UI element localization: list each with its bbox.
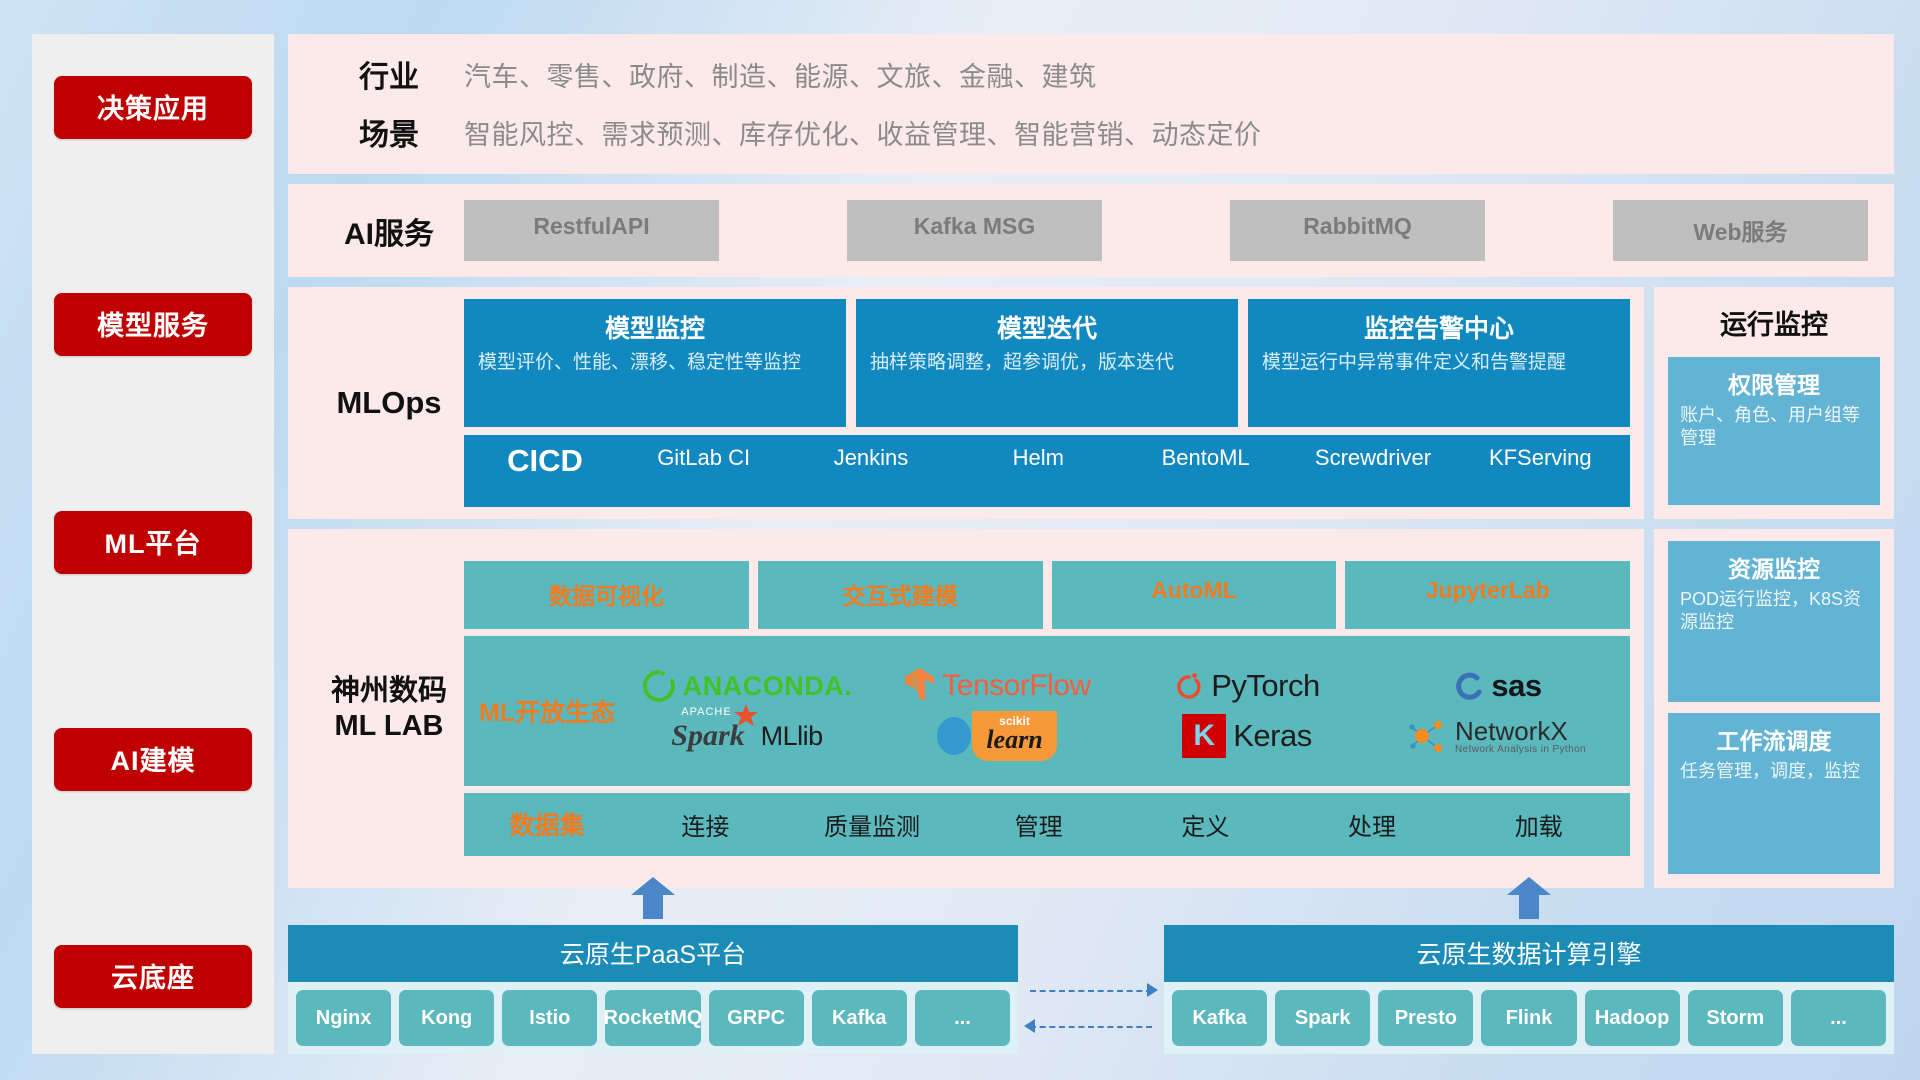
ml-lab-label-line1: 神州数码 bbox=[314, 674, 464, 708]
connector-arrow-right-icon bbox=[1147, 983, 1158, 997]
paas-chip-list: Nginx Kong Istio RocketMQ GRPC Kafka ... bbox=[288, 982, 1018, 1054]
cloud-link-connector bbox=[1018, 898, 1164, 1054]
monitor-card-permission[interactable]: 权限管理 账户、角色、用户组等管理 bbox=[1668, 357, 1880, 505]
mlops-card-model-iteration[interactable]: 模型迭代 抽样策略调整，超参调优，版本迭代 bbox=[856, 299, 1238, 427]
cicd-item-bentoml[interactable]: BentoML bbox=[1122, 445, 1289, 470]
mllib-wordmark: MLlib bbox=[761, 721, 823, 752]
ecosystem-logo-grid: ANACONDA. TensorFlow bbox=[622, 661, 1622, 761]
scenario-label: 场景 bbox=[314, 110, 464, 154]
mlops-and-monitor-row: MLOps 模型监控 模型评价、性能、漂移、稳定性等监控 模型迭代 抽样策略调整… bbox=[288, 287, 1894, 519]
ai-service-chip-web-service[interactable]: Web服务 bbox=[1613, 200, 1868, 261]
mlops-card-desc: 抽样策略调整，超参调优，版本迭代 bbox=[870, 351, 1224, 375]
scenario-values: 智能风控、需求预测、库存优化、收益管理、智能营销、动态定价 bbox=[464, 113, 1262, 152]
sas-icon bbox=[1452, 670, 1484, 702]
keras-mark-icon: K bbox=[1182, 714, 1226, 758]
mlops-card-desc: 模型评价、性能、漂移、稳定性等监控 bbox=[478, 351, 832, 375]
monitor-card-resource[interactable]: 资源监控 POD运行监控，K8S资源监控 bbox=[1668, 541, 1880, 702]
architecture-diagram: 决策应用 模型服务 ML平台 AI建模 云底座 行业 汽车、零售、政府、制造、能… bbox=[0, 0, 1920, 1080]
connector-dashed-line-bottom bbox=[1030, 1026, 1152, 1028]
dataset-item-processing[interactable]: 处理 bbox=[1289, 807, 1456, 842]
mlops-content: 模型监控 模型评价、性能、漂移、稳定性等监控 模型迭代 抽样策略调整，超参调优，… bbox=[464, 299, 1630, 507]
spark-mllib-logo: APACHE Spark MLlib bbox=[671, 719, 822, 753]
rail-spacer-4 bbox=[54, 791, 252, 945]
spark-apache-text: APACHE bbox=[681, 706, 731, 718]
pytorch-logo: PyTorch bbox=[1174, 668, 1319, 704]
keras-mark-letter: K bbox=[1193, 719, 1215, 753]
runtime-monitor-column: 运行监控 权限管理 账户、角色、用户组等管理 bbox=[1654, 287, 1894, 519]
runtime-monitor-title: 运行监控 bbox=[1720, 303, 1828, 342]
paas-platform-group: 云原生PaaS平台 Nginx Kong Istio RocketMQ GRPC… bbox=[288, 885, 1018, 1054]
decision-apps-band: 行业 汽车、零售、政府、制造、能源、文旅、金融、建筑 场景 智能风控、需求预测、… bbox=[288, 34, 1894, 174]
mlops-band: MLOps 模型监控 模型评价、性能、漂移、稳定性等监控 模型迭代 抽样策略调整… bbox=[288, 287, 1644, 519]
ml-open-ecosystem-row: ML开放生态 ANACONDA. bbox=[464, 636, 1630, 786]
cicd-bar: CICD GitLab CI Jenkins Helm BentoML Scre… bbox=[464, 435, 1630, 507]
monitor-card-desc: 账户、角色、用户组等管理 bbox=[1680, 404, 1868, 449]
compute-chip-spark[interactable]: Spark bbox=[1275, 990, 1370, 1046]
ai-service-chip-kafka-msg[interactable]: Kafka MSG bbox=[847, 200, 1102, 261]
mlops-card-title: 模型监控 bbox=[478, 309, 832, 345]
keras-wordmark: Keras bbox=[1233, 718, 1311, 754]
tool-chip-automl[interactable]: AutoML bbox=[1052, 561, 1337, 629]
mlops-card-desc: 模型运行中异常事件定义和告警提醒 bbox=[1262, 351, 1616, 375]
apps-rows: 行业 汽车、零售、政府、制造、能源、文旅、金融、建筑 场景 智能风控、需求预测、… bbox=[314, 52, 1868, 154]
compute-chip-list: Kafka Spark Presto Flink Hadoop Storm ..… bbox=[1164, 982, 1894, 1054]
connector-dashed-line-top bbox=[1030, 990, 1152, 992]
mlops-card-title: 模型迭代 bbox=[870, 309, 1224, 345]
tool-chip-interactive-modeling[interactable]: 交互式建模 bbox=[758, 561, 1043, 629]
monitor-card-desc: POD运行监控，K8S资源监控 bbox=[1680, 588, 1868, 633]
dataset-label: 数据集 bbox=[472, 806, 622, 842]
mlops-card-title: 监控告警中心 bbox=[1262, 309, 1616, 345]
tensorflow-icon bbox=[903, 667, 935, 705]
scikit-learn-logo: scikit learn bbox=[937, 711, 1056, 761]
dataset-item-loading[interactable]: 加载 bbox=[1455, 807, 1622, 842]
main-column: 行业 汽车、零售、政府、制造、能源、文旅、金融、建筑 场景 智能风控、需求预测、… bbox=[288, 34, 1894, 1054]
compute-chip-presto[interactable]: Presto bbox=[1378, 990, 1473, 1046]
mlops-label: MLOps bbox=[314, 385, 464, 421]
ai-service-chip-list: RestfulAPI Kafka MSG RabbitMQ Web服务 bbox=[464, 200, 1868, 261]
pytorch-icon bbox=[1174, 669, 1204, 703]
connector-arrow-left-icon bbox=[1024, 1019, 1035, 1033]
compute-chip-more[interactable]: ... bbox=[1791, 990, 1886, 1046]
ai-modeling-band: 神州数码 ML LAB 数据可视化 交互式建模 AutoML JupyterLa… bbox=[288, 529, 1644, 888]
dataset-row: 数据集 连接 质量监测 管理 定义 处理 加载 bbox=[464, 793, 1630, 856]
modeling-content: 数据可视化 交互式建模 AutoML JupyterLab ML开放生态 bbox=[464, 561, 1630, 856]
rail-item-cloud-base[interactable]: 云底座 bbox=[54, 945, 252, 1008]
dataset-item-management[interactable]: 管理 bbox=[955, 807, 1122, 842]
networkx-icon bbox=[1408, 718, 1448, 754]
networkx-logo: NetworkX Network Analysis in Python bbox=[1408, 718, 1586, 755]
paas-chip-grpc[interactable]: GRPC bbox=[709, 990, 804, 1046]
monitor-card-title: 工作流调度 bbox=[1680, 722, 1868, 756]
paas-chip-nginx[interactable]: Nginx bbox=[296, 990, 391, 1046]
tool-chip-jupyterlab[interactable]: JupyterLab bbox=[1345, 561, 1630, 629]
mlops-card-model-monitoring[interactable]: 模型监控 模型评价、性能、漂移、稳定性等监控 bbox=[464, 299, 846, 427]
cloud-base-band: 云原生PaaS平台 Nginx Kong Istio RocketMQ GRPC… bbox=[288, 898, 1894, 1054]
ml-lab-label-line2: ML LAB bbox=[314, 709, 464, 743]
paas-chip-istio[interactable]: Istio bbox=[502, 990, 597, 1046]
compute-chip-storm[interactable]: Storm bbox=[1688, 990, 1783, 1046]
networkx-wordmark: NetworkX bbox=[1455, 718, 1568, 744]
ml-lab-label: 神州数码 ML LAB bbox=[314, 674, 464, 742]
layer-rail: 决策应用 模型服务 ML平台 AI建模 云底座 bbox=[32, 34, 274, 1054]
ai-service-chip-rabbitmq[interactable]: RabbitMQ bbox=[1230, 200, 1485, 261]
monitor-card-title: 权限管理 bbox=[1680, 366, 1868, 400]
anaconda-icon bbox=[642, 669, 676, 703]
paas-chip-rocketmq[interactable]: RocketMQ bbox=[605, 990, 700, 1046]
spark-star-icon bbox=[733, 703, 759, 729]
runtime-monitor-column-lower: 资源监控 POD运行监控，K8S资源监控 工作流调度 任务管理，调度，监控 bbox=[1654, 529, 1894, 888]
compute-chip-kafka[interactable]: Kafka bbox=[1172, 990, 1267, 1046]
rail-item-ai-modeling[interactable]: AI建模 bbox=[54, 728, 252, 791]
scikit-learn-wordmark: learn bbox=[986, 727, 1042, 753]
keras-logo: K Keras bbox=[1182, 714, 1311, 758]
industry-row: 行业 汽车、零售、政府、制造、能源、文旅、金融、建筑 bbox=[314, 52, 1868, 96]
rail-spacer-1 bbox=[54, 139, 252, 293]
anaconda-logo: ANACONDA. bbox=[642, 669, 853, 703]
anaconda-wordmark: ANACONDA. bbox=[683, 671, 853, 702]
tensorflow-wordmark: TensorFlow bbox=[942, 669, 1090, 703]
industry-values: 汽车、零售、政府、制造、能源、文旅、金融、建筑 bbox=[464, 55, 1097, 94]
mlops-card-alert-center[interactable]: 监控告警中心 模型运行中异常事件定义和告警提醒 bbox=[1248, 299, 1630, 427]
sas-wordmark: sas bbox=[1491, 668, 1541, 704]
modeling-tool-row: 数据可视化 交互式建模 AutoML JupyterLab bbox=[464, 561, 1630, 629]
mlops-card-list: 模型监控 模型评价、性能、漂移、稳定性等监控 模型迭代 抽样策略调整，超参调优，… bbox=[464, 299, 1630, 427]
tool-chip-data-visualization[interactable]: 数据可视化 bbox=[464, 561, 749, 629]
cicd-item-kfserving[interactable]: KFServing bbox=[1457, 445, 1624, 470]
paas-chip-kafka[interactable]: Kafka bbox=[812, 990, 907, 1046]
scikit-blue-blob-icon bbox=[937, 717, 971, 755]
cicd-item-gitlab-ci[interactable]: GitLab CI bbox=[620, 445, 787, 470]
networkx-tagline: Network Analysis in Python bbox=[1455, 744, 1586, 755]
monitor-card-desc: 任务管理，调度，监控 bbox=[1680, 760, 1868, 783]
monitor-card-workflow-scheduling[interactable]: 工作流调度 任务管理，调度，监控 bbox=[1668, 713, 1880, 874]
compute-chip-hadoop[interactable]: Hadoop bbox=[1585, 990, 1680, 1046]
rail-spacer-3 bbox=[54, 574, 252, 728]
scikit-orange-blob-icon: scikit learn bbox=[972, 711, 1056, 761]
cicd-item-helm[interactable]: Helm bbox=[955, 445, 1122, 470]
scenario-row: 场景 智能风控、需求预测、库存优化、收益管理、智能营销、动态定价 bbox=[314, 110, 1868, 154]
paas-platform-title: 云原生PaaS平台 bbox=[288, 925, 1018, 982]
paas-chip-more[interactable]: ... bbox=[915, 990, 1010, 1046]
cicd-item-screwdriver[interactable]: Screwdriver bbox=[1289, 445, 1456, 470]
pytorch-wordmark: PyTorch bbox=[1211, 668, 1319, 704]
cicd-label: CICD bbox=[470, 445, 620, 478]
sas-logo: sas bbox=[1452, 668, 1541, 704]
tensorflow-logo: TensorFlow bbox=[903, 667, 1090, 705]
rail-spacer-2 bbox=[54, 356, 252, 510]
data-compute-engine-title: 云原生数据计算引擎 bbox=[1164, 925, 1894, 982]
dataset-item-quality-monitoring[interactable]: 质量监测 bbox=[789, 807, 956, 842]
rail-item-model-service[interactable]: 模型服务 bbox=[54, 293, 252, 356]
monitor-card-title: 资源监控 bbox=[1680, 550, 1868, 584]
dataset-item-connect[interactable]: 连接 bbox=[622, 807, 789, 842]
rail-item-ml-platform[interactable]: ML平台 bbox=[54, 511, 252, 574]
ai-service-chip-restfulapi[interactable]: RestfulAPI bbox=[464, 200, 719, 261]
modeling-and-monitor-row: 神州数码 ML LAB 数据可视化 交互式建模 AutoML JupyterLa… bbox=[288, 529, 1894, 888]
rail-item-decision-apps[interactable]: 决策应用 bbox=[54, 76, 252, 139]
ai-service-band: AI服务 RestfulAPI Kafka MSG RabbitMQ Web服务 bbox=[288, 184, 1894, 277]
cicd-item-jenkins[interactable]: Jenkins bbox=[787, 445, 954, 470]
compute-chip-flink[interactable]: Flink bbox=[1481, 990, 1576, 1046]
ai-service-label: AI服务 bbox=[314, 209, 464, 253]
ml-open-ecosystem-label: ML开放生态 bbox=[472, 693, 622, 729]
paas-chip-kong[interactable]: Kong bbox=[399, 990, 494, 1046]
data-compute-engine-group: 云原生数据计算引擎 Kafka Spark Presto Flink Hadoo… bbox=[1164, 885, 1894, 1054]
industry-label: 行业 bbox=[314, 52, 464, 96]
dataset-item-definition[interactable]: 定义 bbox=[1122, 807, 1289, 842]
